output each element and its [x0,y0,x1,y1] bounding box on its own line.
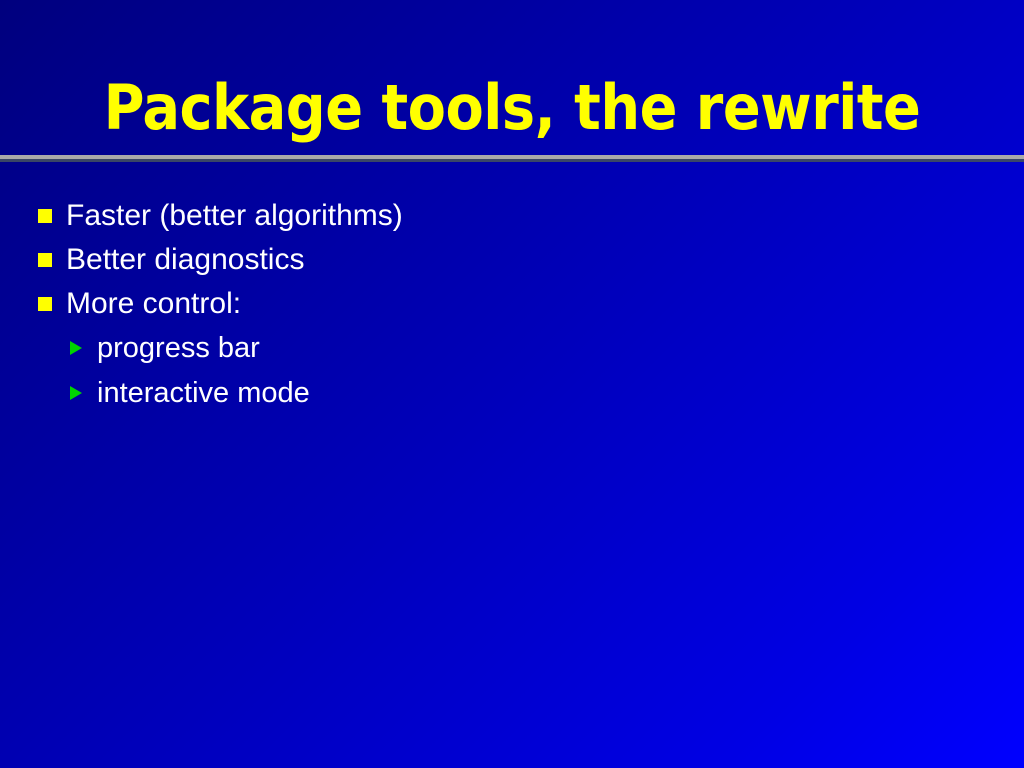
sub-list-item-label: progress bar [97,328,260,368]
presentation-slide: Package tools, the rewrite Faster (bette… [0,0,1024,768]
list-item-label: Faster (better algorithms) [66,196,403,236]
sub-list-item-label: interactive mode [97,373,310,413]
square-bullet-icon [38,209,52,223]
sub-list-item: progress bar [0,328,1024,373]
slide-body: Faster (better algorithms) Better diagno… [0,196,1024,418]
triangle-bullet-icon [70,386,82,400]
square-bullet-icon [38,297,52,311]
list-item: More control: [0,284,1024,328]
list-item-label: Better diagnostics [66,240,304,280]
list-item-label: More control: [66,284,241,324]
sub-list-item: interactive mode [0,373,1024,418]
triangle-bullet-icon [70,341,82,355]
title-divider-shadow [0,159,1024,162]
list-item: Better diagnostics [0,240,1024,284]
page-title: Package tools, the rewrite [0,72,1024,144]
square-bullet-icon [38,253,52,267]
slide-title-block: Package tools, the rewrite [0,72,1024,144]
list-item: Faster (better algorithms) [0,196,1024,240]
